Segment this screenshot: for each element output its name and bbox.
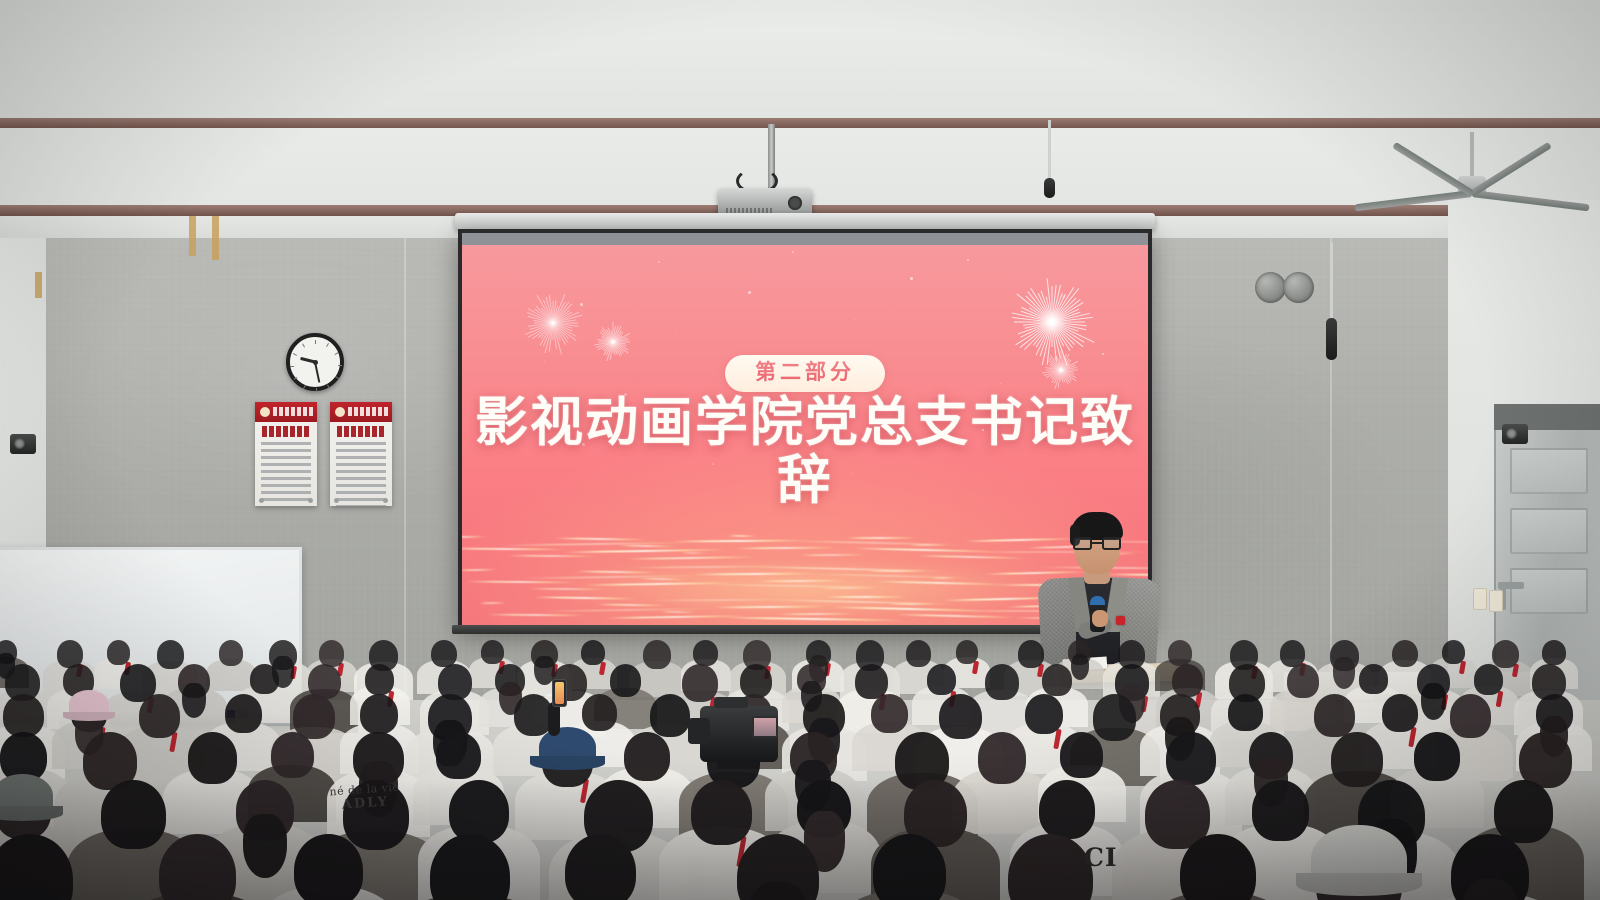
firework-icon-small [590, 315, 636, 361]
audience-member-head [581, 640, 605, 665]
glasses-lens-right [1102, 537, 1121, 550]
camera-flip-screen [752, 716, 778, 738]
glasses-lens-left [1073, 537, 1092, 550]
audience-member-head [643, 640, 670, 669]
audience-member-head [365, 664, 394, 695]
ceiling-beam-upper [0, 118, 1600, 128]
audience-member-head [219, 640, 243, 666]
audience-member-head [250, 664, 278, 694]
audience-member-head [1450, 694, 1492, 738]
audience-member-head [157, 640, 184, 669]
audience-member-head [1314, 694, 1354, 737]
audience-member-head [740, 664, 772, 698]
clock-minute-hand [314, 362, 320, 383]
audience-member-head [1414, 732, 1460, 781]
audience-member-head [582, 694, 617, 731]
audience-member-head [1331, 732, 1382, 787]
speaker-right-icon [1283, 272, 1314, 303]
glasses-icon [1073, 537, 1121, 550]
hanging-mic-cable-left [1048, 120, 1051, 182]
camera-top-handle [714, 697, 748, 708]
audience-member-head [927, 664, 956, 695]
hanging-microphone-right [1326, 318, 1337, 360]
wall-speakers [1255, 272, 1317, 304]
audience-member-head [139, 694, 181, 738]
ceiling-fan-rod [1470, 132, 1474, 178]
cap-brim [530, 756, 605, 770]
poster-body-right [336, 442, 386, 498]
poster-logo-icon [260, 407, 270, 417]
poster-screw-br [308, 498, 313, 503]
wall-camera-icon [1502, 424, 1528, 444]
audience-member-head [985, 664, 1019, 700]
audience-member-head [978, 732, 1027, 784]
wall-camera-left-icon [10, 434, 36, 454]
audience-member-head [1025, 694, 1063, 734]
audience-member-head [481, 640, 504, 664]
audience-member-head [271, 732, 314, 778]
audience-member-head [1018, 640, 1045, 668]
wall-tape-left [189, 216, 196, 256]
smartphone-recording [552, 679, 567, 707]
wall-tape-right [212, 216, 219, 260]
audience-member-head [906, 640, 932, 667]
audience-long-hair [1421, 683, 1446, 720]
audience-member-head [436, 732, 480, 779]
door-panel-bottom [1510, 568, 1588, 614]
hanging-microphone-left [1044, 178, 1055, 198]
poster-header-left [255, 402, 317, 422]
audience-member-head [1039, 780, 1095, 839]
audience-member-head [1442, 640, 1465, 664]
wall-poster-left [255, 402, 317, 506]
audience-long-hair [243, 814, 287, 878]
audience-member-head [956, 640, 979, 664]
camera-lens-hood-icon [688, 718, 710, 744]
audience-member-head [1382, 694, 1418, 732]
shirt-logo-print: CI [1084, 843, 1118, 872]
audience-member-head [1228, 694, 1263, 731]
audience-member-head [1280, 640, 1305, 667]
audience-member-head [449, 780, 508, 843]
light-switch-right[interactable] [1489, 590, 1503, 612]
slide-top-bar [462, 233, 1148, 245]
audience-member-head [1172, 664, 1203, 697]
audience-member-head [650, 694, 690, 737]
white-cap [1311, 825, 1406, 893]
audience-member-head [939, 694, 982, 739]
glasses-bridge [1092, 542, 1102, 544]
poster-logo-icon-2 [335, 407, 345, 417]
audience-member-head [682, 664, 718, 702]
audience-long-hair [1071, 654, 1089, 680]
audience-member-head [1060, 732, 1103, 778]
audience-member-head [871, 694, 908, 733]
poster-header-text-2 [348, 407, 389, 416]
poster-header-right [330, 402, 392, 422]
presenter-hair [1071, 512, 1123, 540]
lecture-hall-scene: 第二部分 影视动画学院党总支书记致辞 [0, 0, 1600, 900]
audience-member-head [1166, 732, 1216, 785]
projector-lens-icon [788, 196, 802, 210]
ceiling [0, 0, 1600, 124]
poster-title-left [262, 426, 310, 437]
audience-member-head [1542, 640, 1566, 665]
audience-member-head [1492, 640, 1519, 668]
navy-cap [539, 727, 596, 767]
audience-member-head [1168, 640, 1192, 666]
wall-tape-edge [35, 272, 42, 298]
audience-member-head [360, 694, 398, 734]
audience-member-head [188, 732, 237, 784]
video-camera [700, 706, 778, 762]
pink-cap [69, 690, 109, 718]
wall-poster-right [330, 402, 392, 506]
cap-brim [1296, 873, 1422, 896]
audience-member-head [610, 664, 641, 697]
clock-center-pin [313, 360, 318, 365]
door-panel-middle [1510, 508, 1588, 554]
slide-badge-label: 第二部分 [755, 359, 855, 384]
audience-member-head [294, 834, 363, 900]
audience-member-head [873, 834, 946, 900]
grey-cap [0, 774, 53, 818]
wall-clock [286, 333, 344, 391]
audience-member-head [1474, 664, 1503, 695]
speaker-left-icon [1255, 272, 1286, 303]
audience-member-head [1252, 780, 1310, 841]
audience-member-head [1042, 664, 1072, 696]
slide-title: 影视动画学院党总支书记致辞 [462, 393, 1148, 510]
poster-screw-bl [259, 498, 264, 503]
poster-title-right [337, 426, 385, 437]
audience-member-head [1287, 664, 1319, 698]
audience-member-head [1392, 640, 1418, 667]
audience [0, 620, 1600, 900]
poster-body-left [261, 442, 311, 498]
phone-screen [555, 682, 564, 704]
audience-member-head [855, 664, 888, 699]
door-panel-top [1510, 448, 1588, 494]
audience-member-head [225, 694, 262, 733]
audience-member-head [691, 780, 752, 845]
audience-member-head [1359, 664, 1387, 694]
audience-member-head [107, 640, 131, 665]
light-switch-left[interactable] [1473, 588, 1487, 610]
projection-screen-case [455, 213, 1155, 229]
slide-section-badge: 第二部分 [725, 355, 885, 392]
poster-screw-br-2 [383, 498, 388, 503]
poster-header-text [273, 407, 314, 416]
audience-member-head [319, 640, 344, 667]
audience-member-head [1494, 780, 1553, 843]
audience-member-head [1093, 694, 1137, 741]
firework-icon-small-2 [1038, 343, 1084, 389]
audience-arm-holding-phone [548, 702, 560, 736]
audience-member-head [3, 694, 43, 737]
poster-screw-bl-2 [334, 498, 339, 503]
firework-icon-medium [517, 281, 589, 353]
hanging-mic-cable-right [1330, 242, 1333, 320]
audience-member-head [624, 732, 670, 781]
audience-member-head [693, 640, 717, 666]
door-handle[interactable] [1498, 582, 1524, 589]
audience-member-head [101, 780, 166, 849]
